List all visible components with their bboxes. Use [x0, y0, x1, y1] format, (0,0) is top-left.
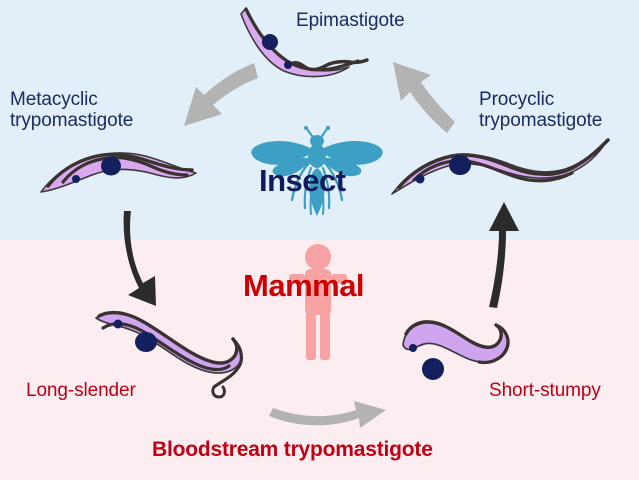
arrow-epimastigote-to-metacyclic	[184, 63, 258, 126]
life-cycle-diagram: Epimastigote Metacyclic trypomastigote P…	[0, 0, 639, 480]
nucleus-icon	[135, 332, 157, 352]
kinetoplast-icon	[416, 175, 425, 184]
stage-label-short-stumpy: Short-stumpy	[489, 380, 601, 401]
parasite-metacyclic-trypomastigote	[41, 153, 196, 192]
host-title-mammal: Mammal	[243, 268, 364, 304]
host-title-insect: Insect	[259, 163, 346, 199]
arrow-metacyclic-to-long-slender	[124, 211, 156, 306]
kinetoplast-icon	[72, 175, 80, 183]
parasite-short-stumpy	[403, 322, 509, 380]
kinetoplast-icon	[284, 61, 292, 69]
stage-label-procyclic-trypomastigote: Procyclic trypomastigote	[479, 89, 602, 132]
kinetoplast-icon	[114, 320, 123, 329]
stage-label-metacyclic-trypomastigote: Metacyclic trypomastigote	[10, 89, 133, 132]
stage-label-epimastigote: Epimastigote	[296, 10, 405, 31]
parasite-procyclic-trypomastigote	[392, 140, 608, 194]
nucleus-icon	[422, 358, 444, 380]
arrow-long-slender-to-short-stumpy	[269, 401, 386, 428]
nucleus-icon	[101, 157, 121, 176]
stage-label-long-slender: Long-slender	[26, 380, 136, 401]
group-label-bloodstream-trypomastigote: Bloodstream trypomastigote	[152, 438, 433, 462]
arrow-short-stumpy-to-procyclic	[489, 202, 519, 308]
diagram-vector-layer	[0, 0, 639, 480]
arrow-procyclic-to-epimastigote	[393, 62, 455, 133]
nucleus-icon	[449, 155, 471, 175]
kinetoplast-icon	[409, 344, 417, 352]
nucleus-icon	[262, 34, 278, 50]
